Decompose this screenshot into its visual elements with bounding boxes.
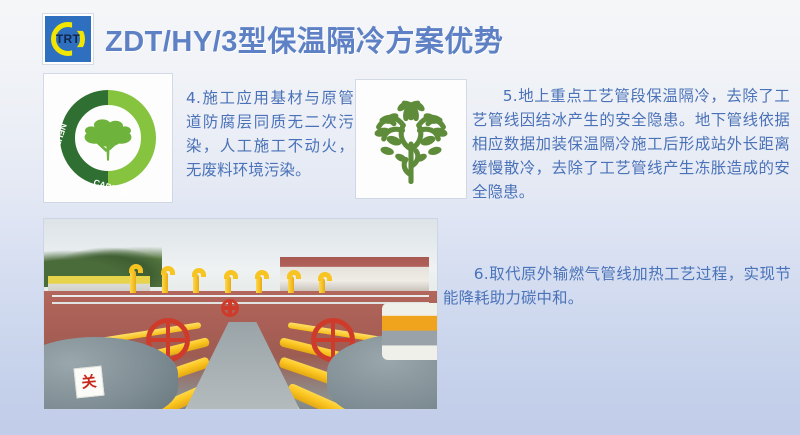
slide-header: TRT ZDT/HY/3型保温隔冷方案优势 [43, 14, 503, 64]
advantage-item-6-text: 6.取代原外输燃气管线加热工艺过程，实现节能降耗助力碳中和。 [443, 262, 791, 310]
photo-riser-pipe [225, 276, 231, 293]
badge-word-neutral: NEUTRAL [47, 122, 69, 164]
stylized-tree-icon [368, 93, 454, 185]
photo-riser-pipe [319, 278, 325, 293]
photo-riser-pipe [130, 270, 136, 293]
photo-valve-sign: 关 [74, 366, 105, 399]
badge-word-carbon: CARBON [92, 177, 131, 198]
gas-pipeline-station-photo: 关 [44, 219, 437, 409]
photo-riser-pipe [162, 272, 168, 293]
photo-riser-pipe [193, 274, 199, 293]
photo-riser-pipe [288, 276, 294, 293]
badge-tree-icon [78, 110, 138, 170]
tree-image-card [356, 80, 466, 198]
logo-trt-text: TRT [45, 32, 91, 46]
slide-canvas: TRT ZDT/HY/3型保温隔冷方案优势 CARBON NEUTRAL [0, 0, 800, 435]
trt-logo: TRT [43, 14, 93, 64]
photo-valve-wheel [221, 299, 239, 317]
advantage-item-5-text: 5.地上重点工艺管段保温隔冷，去除了工艺管线因结冰产生的安全隐患。地下管线依据相… [472, 84, 790, 204]
photo-tank-insulation-band [382, 303, 437, 360]
page-title: ZDT/HY/3型保温隔冷方案优势 [105, 18, 503, 60]
carbon-neutral-image-card: CARBON NEUTRAL [44, 74, 172, 202]
photo-riser-pipe [256, 276, 262, 293]
carbon-neutral-badge: CARBON NEUTRAL [60, 90, 156, 186]
photo-railing [52, 295, 429, 304]
photo-scene: 关 [44, 219, 437, 409]
advantage-item-4-text: 4.施工应用基材与原管道防腐层同质无二次污染，人工施工不动火，无废料环境污染。 [186, 86, 354, 182]
photo-background-building-right [280, 257, 429, 291]
